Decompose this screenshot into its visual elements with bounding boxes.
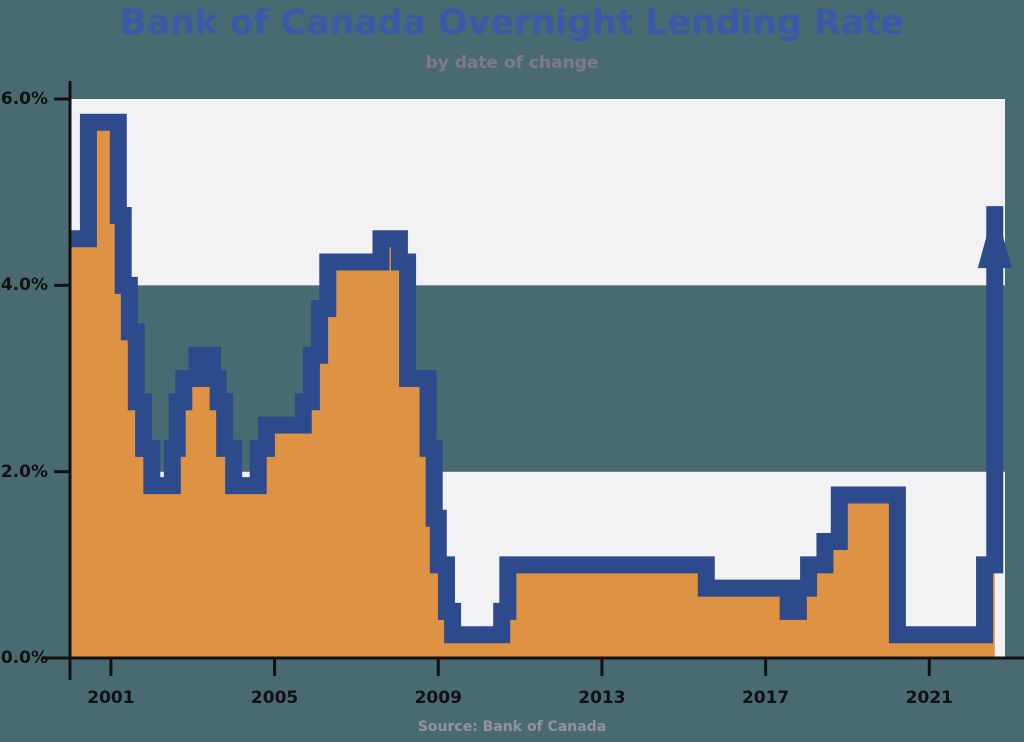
chart-source-note: Source: Bank of Canada [0, 718, 1024, 736]
chart-title: Bank of Canada Overnight Lending Rate [0, 2, 1024, 44]
chart-plot-area [0, 0, 1024, 742]
chart-container: Bank of Canada Overnight Lending Rate by… [0, 0, 1024, 742]
plot-band-2 [70, 99, 1005, 285]
chart-subtitle: by date of change [0, 52, 1024, 74]
